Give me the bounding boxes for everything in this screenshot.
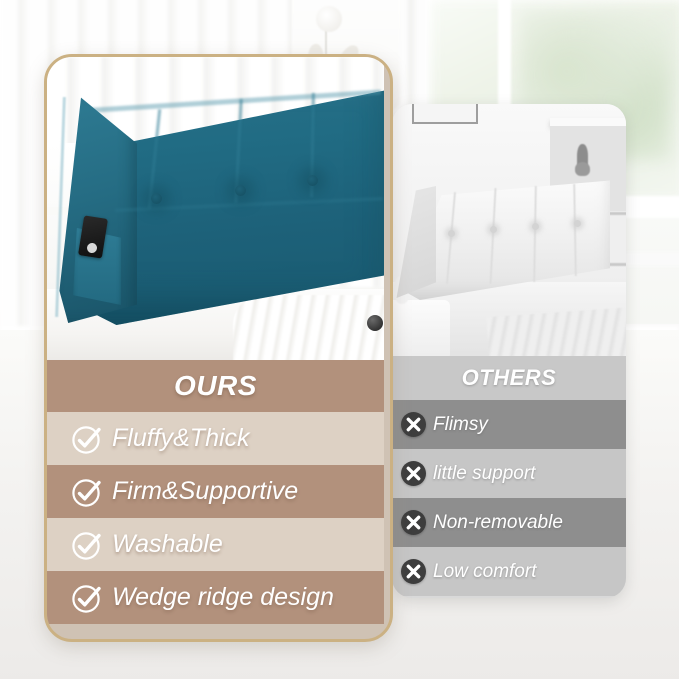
x-circle-icon bbox=[401, 412, 426, 437]
ours-feature-label: Firm&Supportive bbox=[112, 477, 298, 506]
others-pillow-tuft bbox=[448, 230, 455, 237]
others-product-photo bbox=[392, 104, 626, 356]
check-circle-icon bbox=[71, 424, 101, 454]
ours-feature-row: Washable bbox=[47, 518, 384, 571]
others-feature-label: Flimsy bbox=[433, 414, 488, 436]
others-photo-shelf bbox=[550, 118, 626, 126]
ours-feature-row: Wedge ridge design bbox=[47, 571, 384, 624]
others-pillow-side bbox=[394, 186, 436, 298]
ours-header-label: OURS bbox=[174, 370, 257, 402]
others-feature-row: Low comfort bbox=[392, 547, 626, 596]
others-feature-label: little support bbox=[433, 463, 535, 485]
others-header-label: OTHERS bbox=[462, 365, 557, 391]
ours-wedge-pillow bbox=[57, 75, 384, 330]
ours-panel: OURS Fluffy&Thick Firm bbox=[44, 54, 393, 642]
ours-header-row: OURS bbox=[47, 360, 384, 412]
x-circle-icon bbox=[401, 559, 426, 584]
others-wedge-pillow bbox=[394, 178, 610, 300]
ours-feature-label: Fluffy&Thick bbox=[112, 424, 250, 453]
x-circle-icon bbox=[401, 510, 426, 535]
others-photo-picture-frame bbox=[412, 104, 478, 124]
others-photo-nightstand bbox=[392, 300, 450, 356]
others-panel: OTHERS Flimsy little support bbox=[392, 104, 626, 598]
check-circle-icon bbox=[71, 583, 101, 613]
others-photo-figurine-base bbox=[575, 162, 590, 176]
check-circle-icon bbox=[71, 477, 101, 507]
background-flower bbox=[316, 6, 342, 32]
ours-feature-label: Washable bbox=[112, 530, 223, 559]
others-header-row: OTHERS bbox=[392, 356, 626, 400]
check-circle-icon bbox=[71, 530, 101, 560]
others-pillow-tuft bbox=[574, 220, 581, 227]
ours-pillow-tuft bbox=[307, 175, 318, 186]
others-feature-row: little support bbox=[392, 449, 626, 498]
others-feature-row: Flimsy bbox=[392, 400, 626, 449]
ours-product-photo bbox=[47, 57, 384, 360]
others-pillow-tuft bbox=[490, 226, 497, 233]
ours-feature-row: Firm&Supportive bbox=[47, 465, 384, 518]
others-pillow-tuft bbox=[532, 223, 539, 230]
ours-feature-label: Wedge ridge design bbox=[112, 583, 334, 612]
others-feature-label: Non-removable bbox=[433, 512, 563, 534]
ours-feature-row: Fluffy&Thick bbox=[47, 412, 384, 465]
ours-pillow-tuft bbox=[235, 185, 246, 196]
product-comparison-image: OTHERS Flimsy little support bbox=[0, 0, 679, 679]
others-feature-row: Non-removable bbox=[392, 498, 626, 547]
others-feature-table: OTHERS Flimsy little support bbox=[392, 356, 626, 598]
others-feature-label: Low comfort bbox=[433, 561, 536, 583]
x-circle-icon bbox=[401, 461, 426, 486]
ours-feature-table: OURS Fluffy&Thick Firm bbox=[47, 360, 384, 633]
ours-pillow-tuft bbox=[151, 193, 162, 204]
